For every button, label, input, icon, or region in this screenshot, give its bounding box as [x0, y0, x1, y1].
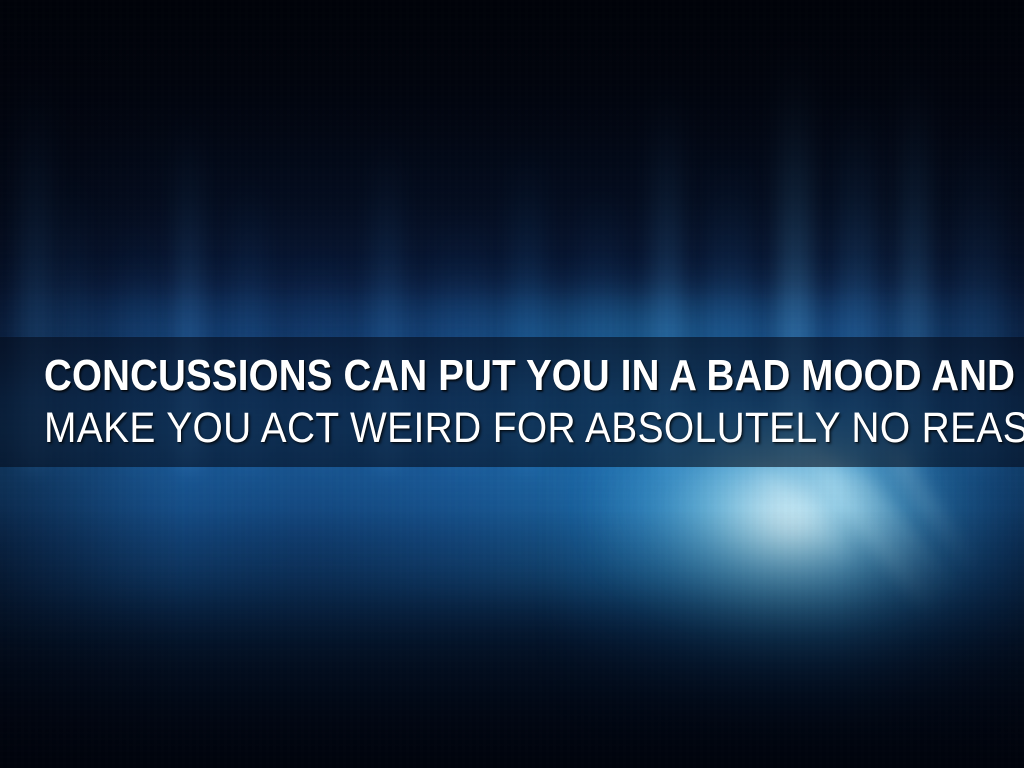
caption-line-1: CONCUSSIONS CAN PUT YOU IN A BAD MOOD AN…	[44, 354, 1024, 398]
caption-line-2: MAKE YOU ACT WEIRD FOR ABSOLUTELY NO REA…	[44, 407, 1024, 450]
slide-canvas: CONCUSSIONS CAN PUT YOU IN A BAD MOOD AN…	[0, 0, 1024, 768]
caption-band: CONCUSSIONS CAN PUT YOU IN A BAD MOOD AN…	[0, 337, 1024, 467]
